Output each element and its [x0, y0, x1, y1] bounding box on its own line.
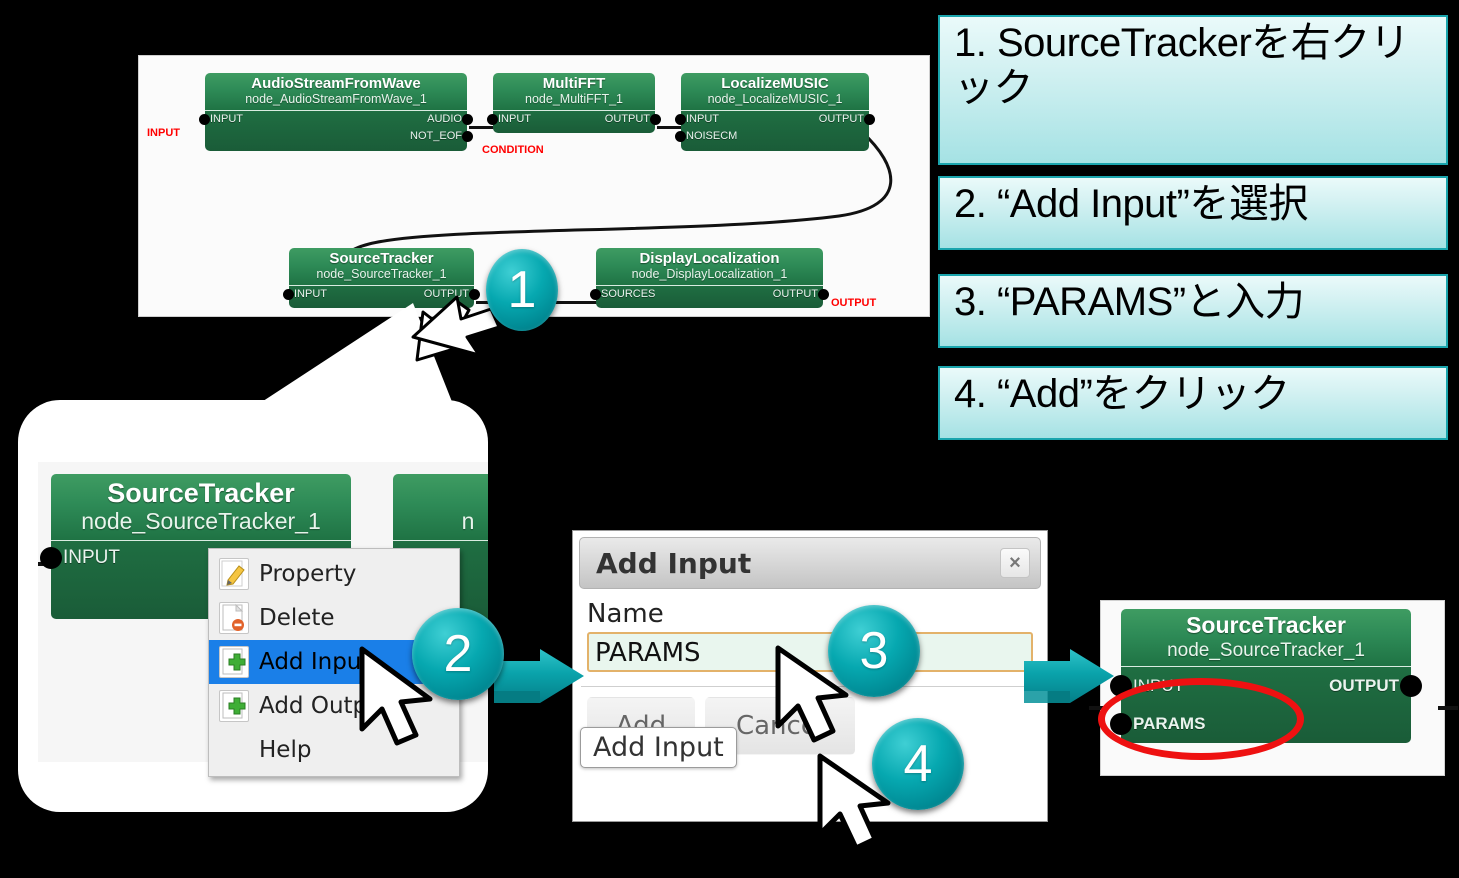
params-highlight-ellipse [1098, 678, 1304, 760]
slide-root: { "instructions": [ { "id": "step-1", "t… [0, 0, 1459, 866]
port-dot-output[interactable] [818, 289, 829, 300]
pencil-document-icon [219, 558, 249, 590]
node-title: SourceTracker [61, 478, 341, 508]
node-header: SourceTracker node_SourceTracker_1 [289, 248, 474, 286]
port-noisecm[interactable]: NOISECM [686, 128, 737, 145]
port-dot-input[interactable] [487, 114, 498, 125]
port-input[interactable]: INPUT [210, 111, 243, 128]
add-input-tooltip: Add Input [580, 727, 737, 768]
dialog-title: Add Input [596, 547, 1000, 580]
node-header: n [393, 474, 488, 541]
teal-arrow-1 [492, 645, 592, 725]
port-input[interactable]: INPUT [686, 111, 719, 128]
menu-item-label: Help [259, 737, 311, 763]
node-subtitle: node_SourceTracker_1 [1131, 639, 1401, 662]
badge-step-4: 4 [872, 718, 964, 810]
port-dot-audio[interactable] [462, 114, 473, 125]
port-audio[interactable]: AUDIO [427, 111, 462, 128]
node-displaylocalization[interactable]: DisplayLocalization node_DisplayLocaliza… [596, 248, 823, 308]
node-title: DisplayLocalization [604, 250, 815, 267]
add-plus-document-icon [219, 646, 249, 678]
node-body: INPUT OUTPUT [493, 111, 655, 133]
port-input[interactable]: INPUT [63, 541, 120, 575]
dialog-header: Add Input × [579, 537, 1041, 589]
port-dot-input[interactable] [40, 547, 62, 569]
port-not-eof[interactable]: NOT_EOF [410, 128, 462, 145]
menu-item-label: Property [259, 561, 356, 587]
node-title [403, 478, 488, 508]
node-subtitle: node_MultiFFT_1 [501, 92, 647, 107]
port-output[interactable]: OUTPUT [1329, 667, 1399, 705]
external-label-condition: CONDITION [482, 145, 544, 156]
port-dot-output[interactable] [1400, 675, 1422, 697]
port-output[interactable]: OUTPUT [819, 111, 864, 128]
node-body: INPUT OUTPUT NOISECM [681, 111, 869, 151]
node-audiostreamfromwave[interactable]: AudioStreamFromWave node_AudioStreamFrom… [205, 73, 467, 151]
node-header: DisplayLocalization node_DisplayLocaliza… [596, 248, 823, 286]
node-header: SourceTracker node_SourceTracker_1 [51, 474, 351, 541]
badge-step-2: 2 [412, 608, 504, 700]
port-dot-input[interactable] [675, 114, 686, 125]
node-title: SourceTracker [1131, 612, 1401, 639]
add-plus-document-icon [219, 690, 249, 722]
port-dot-input[interactable] [283, 289, 294, 300]
node-body: SOURCES OUTPUT [596, 286, 823, 308]
node-subtitle: node_LocalizeMUSIC_1 [689, 92, 861, 107]
port-input[interactable]: INPUT [498, 111, 531, 128]
port-output[interactable]: OUTPUT [605, 111, 650, 128]
menu-item-label: Delete [259, 605, 335, 631]
menu-item-property[interactable]: Property [209, 552, 459, 596]
node-header: LocalizeMUSIC node_LocalizeMUSIC_1 [681, 73, 869, 111]
node-subtitle: node_DisplayLocalization_1 [604, 267, 815, 282]
node-localizemusic[interactable]: LocalizeMUSIC node_LocalizeMUSIC_1 INPUT… [681, 73, 869, 151]
port-dot-output[interactable] [864, 114, 875, 125]
node-subtitle: node_SourceTracker_1 [297, 267, 466, 282]
port-dot-noisecm[interactable] [675, 131, 686, 142]
port-sources[interactable]: SOURCES [601, 286, 655, 303]
instruction-step-4: 4. “Add”をクリック [938, 366, 1448, 440]
node-body: INPUT AUDIO NOT_EOF [205, 111, 467, 151]
badge-step-1: 1 [486, 249, 558, 331]
node-title: AudioStreamFromWave [213, 75, 459, 92]
badge-step-3: 3 [828, 605, 920, 697]
delete-document-icon [219, 602, 249, 634]
node-header: AudioStreamFromWave node_AudioStreamFrom… [205, 73, 467, 111]
name-label: Name [587, 599, 1033, 629]
port-dot-output[interactable] [650, 114, 661, 125]
node-subtitle: n [403, 508, 488, 535]
node-title: SourceTracker [297, 250, 466, 267]
external-label-output: OUTPUT [831, 298, 876, 309]
node-header: SourceTracker node_SourceTracker_1 [1121, 609, 1411, 667]
port-dot-input[interactable] [199, 114, 210, 125]
node-title: LocalizeMUSIC [689, 75, 861, 92]
node-multifft[interactable]: MultiFFT node_MultiFFT_1 INPUT OUTPUT [493, 73, 655, 133]
node-title: MultiFFT [501, 75, 647, 92]
node-subtitle: node_SourceTracker_1 [61, 508, 341, 535]
instruction-step-1: 1. SourceTrackerを右クリック [938, 15, 1448, 165]
port-dot-sources[interactable] [590, 289, 601, 300]
wire-out-of-result-node [1438, 706, 1458, 710]
instruction-step-3: 3. “PARAMS”と入力 [938, 274, 1448, 348]
node-subtitle: node_AudioStreamFromWave_1 [213, 92, 459, 107]
port-dot-not-eof[interactable] [462, 131, 473, 142]
external-label-input: INPUT [147, 128, 180, 139]
port-output[interactable]: OUTPUT [773, 286, 818, 303]
node-header: MultiFFT node_MultiFFT_1 [493, 73, 655, 111]
instruction-step-2: 2. “Add Input”を選択 [938, 176, 1448, 250]
close-icon[interactable]: × [1000, 548, 1030, 578]
